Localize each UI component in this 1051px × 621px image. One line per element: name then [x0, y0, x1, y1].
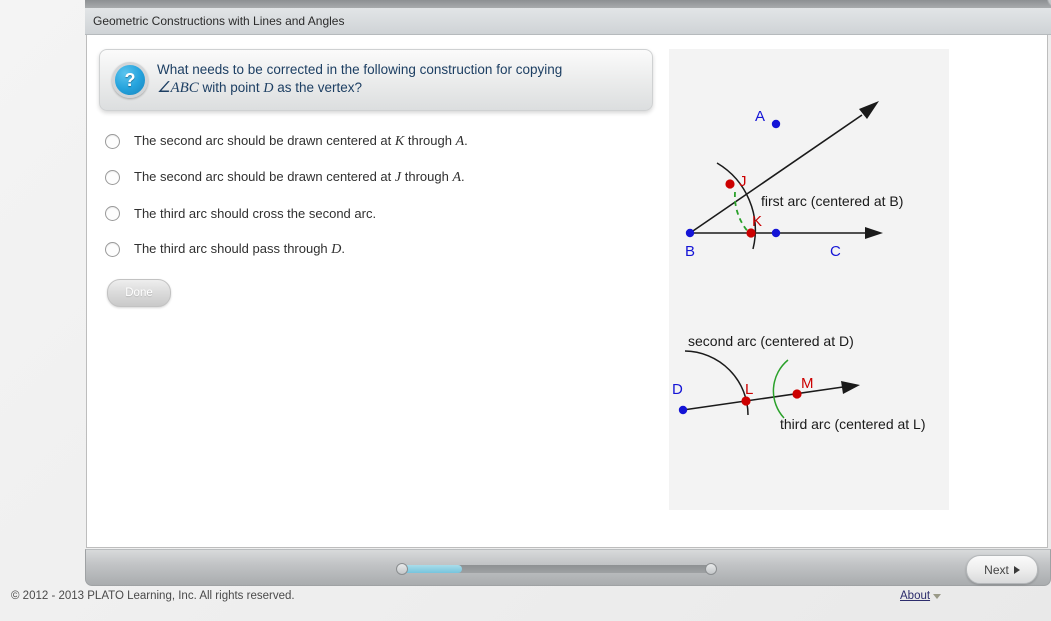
window-title: Geometric Constructions with Lines and A…: [93, 14, 344, 28]
caption-third-arc: third arc (centered at L): [780, 416, 926, 432]
label-l: L: [745, 381, 753, 398]
app-window: Geometric Constructions with Lines and A…: [85, 8, 1051, 621]
point-c-dot: [772, 229, 780, 237]
option-label-2: The second arc should be drawn centered …: [134, 169, 465, 186]
radio-button-1[interactable]: [105, 134, 120, 149]
radio-button-2[interactable]: [105, 170, 120, 185]
construction-diagram: A B C J K first arc (centered at B): [669, 49, 949, 510]
option-3-prefix: The third arc should cross the second ar…: [134, 206, 376, 221]
vertex-variable-d: D: [263, 81, 273, 96]
question-banner: ? What needs to be corrected in the foll…: [99, 49, 653, 111]
ray-d-line: [683, 387, 843, 410]
ray-ba-line: [690, 115, 862, 233]
option-1-suffix: .: [464, 133, 468, 148]
caption-first-arc: first arc (centered at B): [761, 193, 903, 209]
label-m: M: [801, 375, 814, 392]
label-d: D: [672, 381, 683, 398]
label-c: C: [830, 243, 841, 260]
option-1-var-2: A: [456, 134, 465, 149]
next-button[interactable]: Next: [966, 555, 1038, 584]
option-label-3: The third arc should cross the second ar…: [134, 206, 376, 221]
question-line-1: What needs to be corrected in the follow…: [157, 62, 562, 77]
option-row-1[interactable]: The second arc should be drawn centered …: [101, 123, 661, 159]
point-j-dot: [725, 179, 734, 188]
option-4-var-1: D: [331, 242, 341, 257]
option-row-3[interactable]: The third arc should cross the second ar…: [101, 195, 661, 231]
option-row-4[interactable]: The third arc should pass through D.: [101, 231, 661, 267]
option-4-suffix: .: [341, 241, 345, 256]
point-b-dot: [686, 229, 694, 237]
label-b: B: [685, 243, 695, 260]
progress-slider[interactable]: [399, 565, 714, 573]
title-bar: Geometric Constructions with Lines and A…: [85, 8, 1051, 35]
ray-bc-arrowhead: [865, 227, 883, 239]
copyright-text: © 2012 - 2013 PLATO Learning, Inc. All r…: [11, 590, 295, 602]
option-2-var-2: A: [452, 170, 461, 185]
point-a-dot: [772, 120, 780, 128]
option-2-prefix: The second arc should be drawn centered …: [134, 169, 395, 184]
label-j: J: [739, 173, 747, 190]
question-line-2-tail: as the vertex?: [273, 80, 362, 95]
next-button-label: Next: [984, 563, 1009, 577]
label-k: K: [752, 213, 762, 230]
lesson-content-area: ? What needs to be corrected in the foll…: [86, 35, 1048, 548]
label-a: A: [755, 108, 765, 125]
option-2-mid: through: [401, 169, 452, 184]
screen-root: Geometric Constructions with Lines and A…: [0, 0, 1051, 621]
question-mark-icon[interactable]: ?: [112, 62, 148, 98]
window-top-strip: [85, 0, 1051, 8]
construction-figure-panel: A B C J K first arc (centered at B): [669, 49, 949, 510]
point-d-dot: [679, 406, 687, 414]
question-line-2-mid: with point: [199, 80, 264, 95]
done-button[interactable]: Done: [107, 279, 171, 307]
option-4-prefix: The third arc should pass through: [134, 241, 331, 256]
option-1-prefix: The second arc should be drawn centered …: [134, 133, 395, 148]
progress-knob-start[interactable]: [396, 563, 408, 575]
answer-options-list: The second arc should be drawn centered …: [101, 123, 661, 267]
question-mark-glyph: ?: [115, 65, 145, 95]
radio-button-3[interactable]: [105, 206, 120, 221]
ray-ba-arrowhead: [859, 101, 879, 119]
angle-abc-notation: ∠ABC: [157, 80, 199, 96]
bottom-toolbar: Next: [85, 549, 1051, 586]
next-arrow-icon: [1014, 566, 1020, 574]
about-link-label: About: [900, 590, 930, 602]
radio-button-4[interactable]: [105, 242, 120, 257]
about-link[interactable]: About: [900, 590, 941, 602]
option-row-2[interactable]: The second arc should be drawn centered …: [101, 159, 661, 195]
question-text: What needs to be corrected in the follow…: [157, 61, 642, 98]
chevron-down-icon: [933, 594, 941, 599]
option-2-suffix: .: [461, 169, 465, 184]
option-label-1: The second arc should be drawn centered …: [134, 133, 468, 150]
caption-second-arc: second arc (centered at D): [688, 333, 854, 349]
ray-d-arrowhead: [841, 381, 860, 394]
option-label-4: The third arc should pass through D.: [134, 241, 345, 258]
option-1-var-1: K: [395, 134, 404, 149]
third-arc-green: [773, 360, 788, 418]
progress-fill: [399, 565, 462, 573]
option-1-mid: through: [404, 133, 455, 148]
progress-knob-end[interactable]: [705, 563, 717, 575]
